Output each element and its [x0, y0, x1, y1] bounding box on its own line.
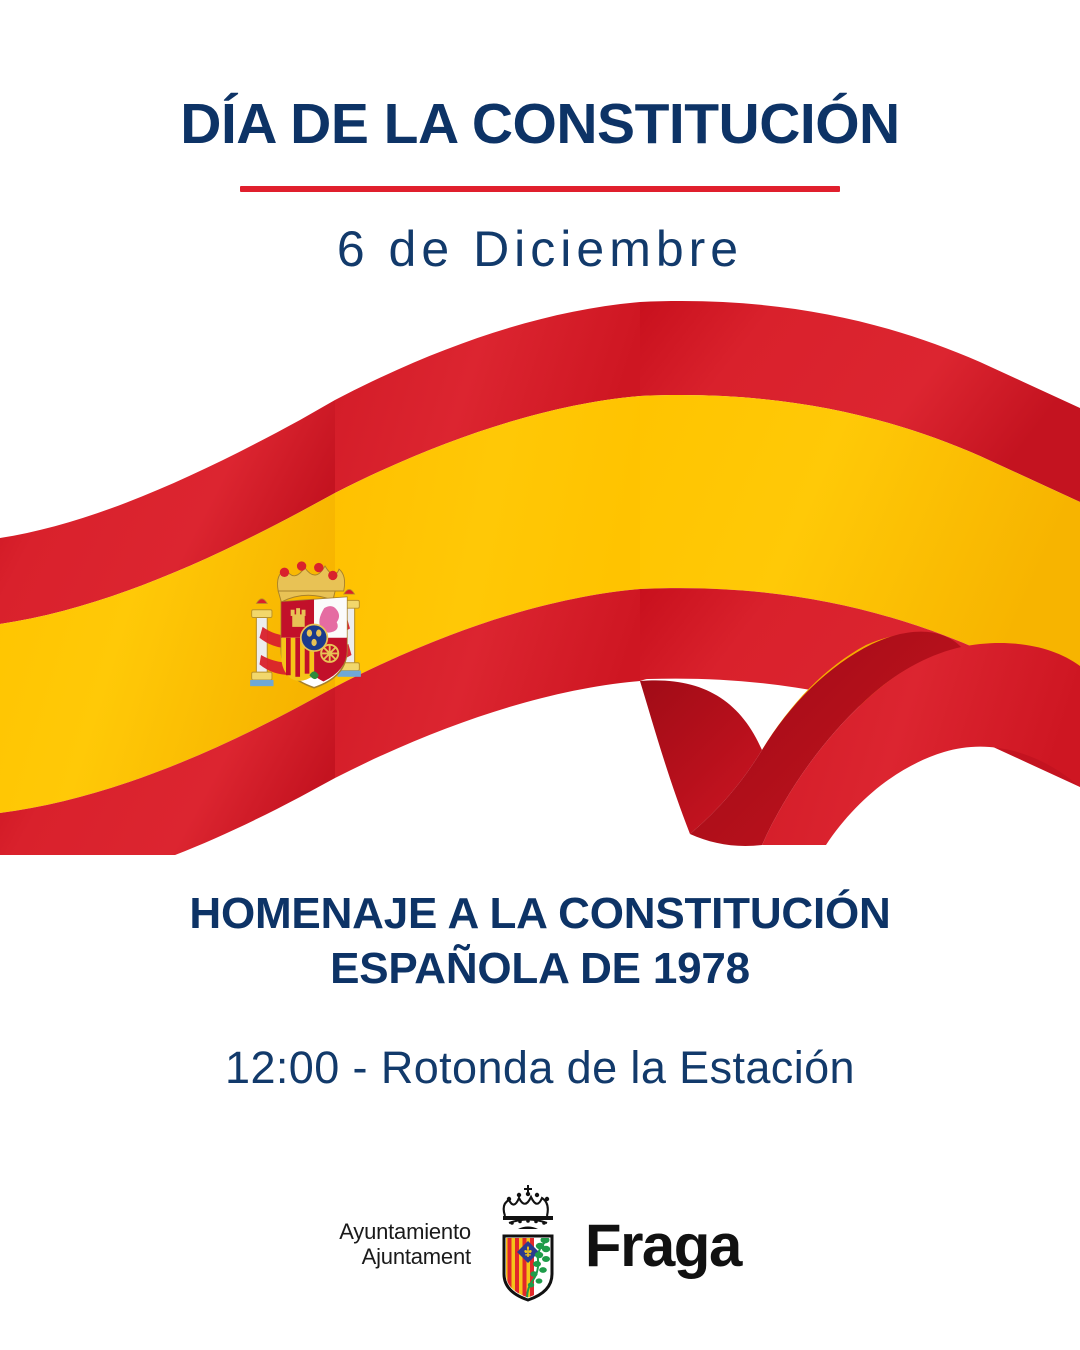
- main-content-block: HOMENAJE A LA CONSTITUCIÓN ESPAÑOLA DE 1…: [0, 886, 1080, 1090]
- page-title: DÍA DE LA CONSTITUCIÓN: [0, 96, 1080, 153]
- logo-word-spanish: Ayuntamiento: [339, 1220, 471, 1245]
- title-divider: [240, 186, 840, 192]
- fraga-crest-icon: [485, 1182, 571, 1302]
- event-time-and-location: 12:00 - Rotonda de la Estación: [0, 1045, 1080, 1090]
- logo-town-name: Fraga: [571, 1208, 741, 1276]
- event-headline-line-1: HOMENAJE A LA CONSTITUCIÓN: [0, 886, 1080, 941]
- poster-canvas: DÍA DE LA CONSTITUCIÓN 6 de Diciembre: [0, 0, 1080, 1350]
- logo-wordmark-bilingual: Ayuntamiento Ajuntament: [339, 1214, 485, 1269]
- spanish-flag-illustration: [0, 300, 1080, 855]
- event-date: 6 de Diciembre: [0, 224, 1080, 274]
- header-block: DÍA DE LA CONSTITUCIÓN 6 de Diciembre: [0, 96, 1080, 274]
- event-headline-line-2: ESPAÑOLA DE 1978: [0, 941, 1080, 996]
- ayuntamiento-fraga-logo[interactable]: Ayuntamiento Ajuntament: [0, 1182, 1080, 1302]
- logo-word-catalan: Ajuntament: [339, 1245, 471, 1270]
- event-headline: HOMENAJE A LA CONSTITUCIÓN ESPAÑOLA DE 1…: [0, 886, 1080, 997]
